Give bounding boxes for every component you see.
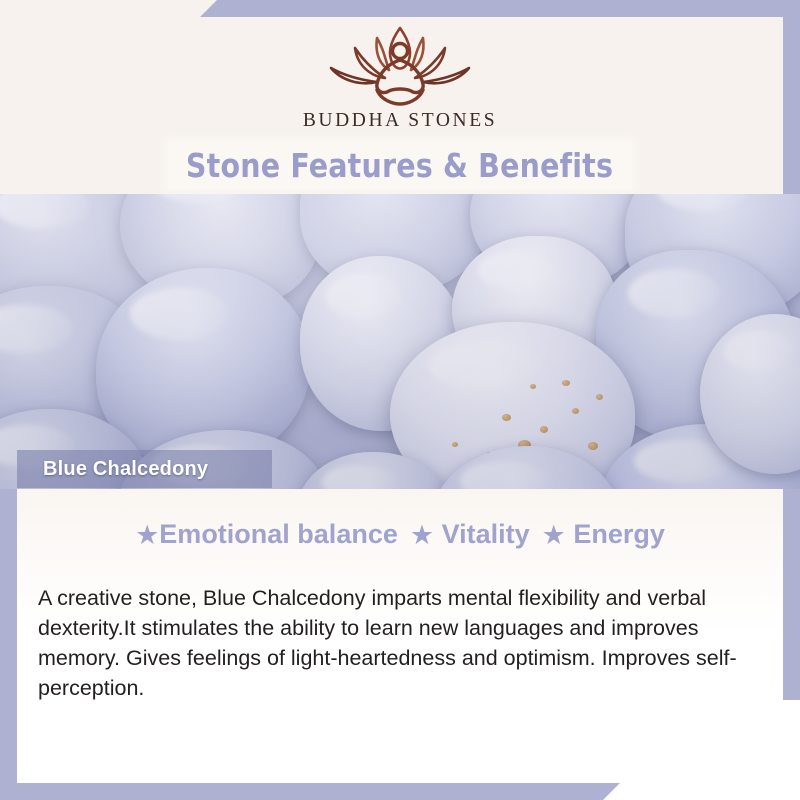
stone-description: A creative stone, Blue Chalcedony impart… xyxy=(38,583,764,703)
brand-name: BUDDHA STONES xyxy=(0,110,800,132)
frame-bar-top xyxy=(200,0,800,17)
benefit-item-emotional-balance: ★Emotional balance xyxy=(135,519,398,549)
mineral-inclusion xyxy=(572,408,579,414)
benefit-label: Emotional balance xyxy=(159,519,398,549)
mineral-inclusion xyxy=(596,394,603,400)
mineral-inclusion xyxy=(530,384,536,389)
page-title: Stone Features & Benefits xyxy=(186,149,613,182)
mineral-inclusion xyxy=(452,442,458,447)
stone-photo xyxy=(0,194,800,489)
mineral-inclusion xyxy=(502,414,511,421)
lotus-meditation-figure-icon xyxy=(315,22,485,108)
benefits-list: ★Emotional balance★ Vitality★ Energy xyxy=(0,519,800,550)
stone-name-badge: Blue Chalcedony xyxy=(17,450,272,488)
brand-block: BUDDHA STONES xyxy=(0,22,800,132)
title-banner: Stone Features & Benefits xyxy=(168,141,632,190)
frame-bar-left xyxy=(0,440,17,800)
star-icon: ★ xyxy=(542,520,566,551)
star-icon: ★ xyxy=(135,520,159,551)
mineral-inclusion xyxy=(540,426,548,433)
stone-photo-canvas xyxy=(0,194,800,489)
frame-bar-bottom xyxy=(0,783,620,800)
benefit-item-energy: ★ Energy xyxy=(542,519,665,549)
benefit-label: Energy xyxy=(573,519,665,549)
benefit-label: Vitality xyxy=(442,519,530,549)
star-icon: ★ xyxy=(410,520,434,551)
mineral-inclusion xyxy=(588,442,598,450)
benefit-item-vitality: ★ Vitality xyxy=(410,519,530,549)
stone-name-label: Blue Chalcedony xyxy=(17,458,208,481)
mineral-inclusion xyxy=(562,380,570,386)
stone-features-poster: BUDDHA STONES Stone Features & Benefits xyxy=(0,0,800,800)
